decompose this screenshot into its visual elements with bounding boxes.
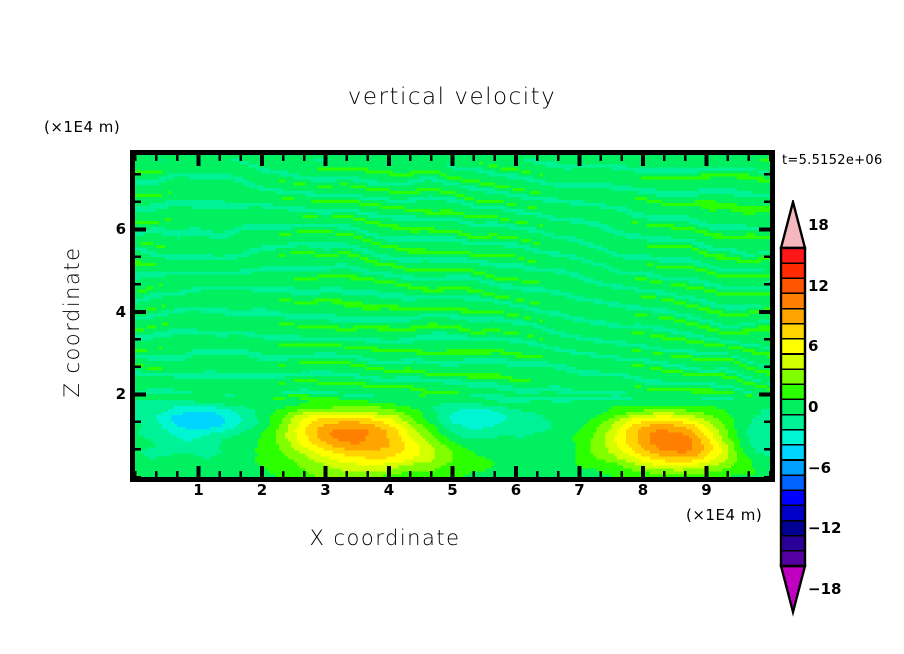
colorbar-label-group: 181260−6−12−18 — [808, 0, 878, 654]
colorbar-tick-label: −6 — [808, 459, 831, 477]
x-tick-label: 4 — [384, 481, 394, 499]
x-tick-label: 3 — [320, 481, 330, 499]
colorbar-tick-label: 0 — [808, 398, 818, 416]
colorbar-tick-label: 18 — [808, 216, 829, 234]
x-tick-label: 9 — [701, 481, 711, 499]
x-axis-title: X coordinate — [0, 526, 770, 550]
colorbar-tick-label: −12 — [808, 519, 841, 537]
x-tick-label: 8 — [638, 481, 648, 499]
y-axis-title: Z coordinate — [60, 222, 84, 422]
colorbar-tick-label: 6 — [808, 337, 818, 355]
x-tick-label: 1 — [193, 481, 203, 499]
x-tick-label: 6 — [511, 481, 521, 499]
figure-canvas: vertical velocity (×1E4 m) t=5.5152e+06 … — [0, 0, 904, 654]
y-tick-label: 4 — [116, 303, 126, 321]
colorbar-tick-label: −18 — [808, 580, 841, 598]
x-tick-label: 7 — [574, 481, 584, 499]
axes-frame — [0, 0, 904, 654]
x-tick-label: 2 — [257, 481, 267, 499]
y-tick-label-group: 246 — [86, 0, 126, 654]
y-tick-label: 6 — [116, 220, 126, 238]
colorbar-tick-label: 12 — [808, 277, 829, 295]
x-tick-label: 5 — [447, 481, 457, 499]
x-axis-units-label: (×1E4 m) — [686, 506, 762, 524]
y-tick-label: 2 — [116, 385, 126, 403]
